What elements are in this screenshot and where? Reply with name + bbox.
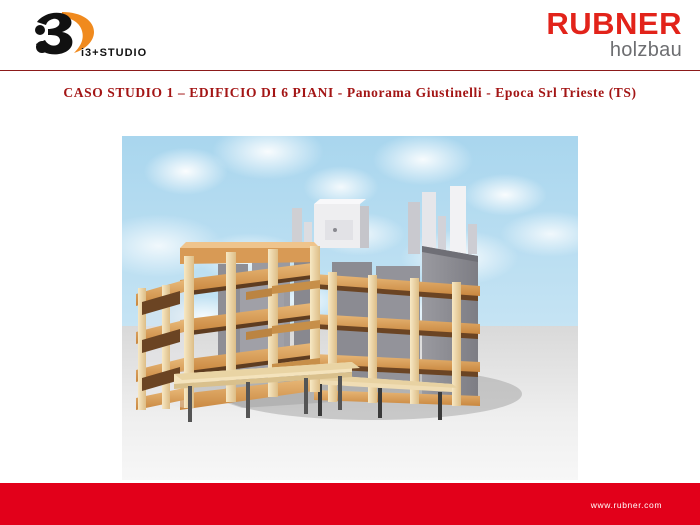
i3-studio-logo: i3+STUDIO [24,8,154,60]
slide-footer: www.rubner.com [0,483,700,525]
header-divider [0,70,700,71]
rooftop-cores [292,186,477,254]
right-wing-block [312,246,480,420]
rubner-wordmark: RUBNER [546,8,682,40]
slide: i3+STUDIO RUBNER holzbau CASO STUDIO 1 –… [0,0,700,525]
holzbau-wordmark: holzbau [546,39,682,61]
i3-studio-wordmark: i3+STUDIO [81,47,147,59]
dot-accent-lower-icon [36,41,48,53]
page-title: CASO STUDIO 1 – EDIFICIO DI 6 PIANI - Pa… [0,85,700,101]
i3-studio-logo-mark: i3+STUDIO [24,8,154,60]
building-3d-render [122,136,578,480]
timber-frame-building-model [122,136,578,480]
rubner-holzbau-logo: RUBNER holzbau [546,8,682,61]
website-url[interactable]: www.rubner.com [591,500,662,510]
dot-accent-icon [35,25,45,35]
slide-header: i3+STUDIO RUBNER holzbau [0,0,700,71]
